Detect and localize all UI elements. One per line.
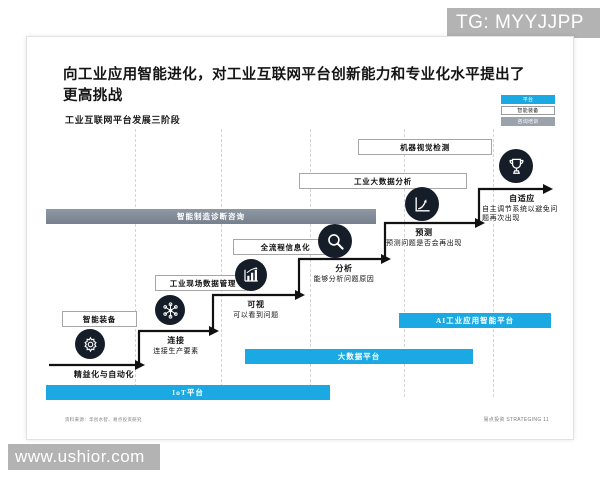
trophy-icon [499,149,533,183]
gear-icon [75,329,105,359]
slide-screenshot: TG: MYYJJPP www.ushior.com 向工业应用智能进化，对工业… [0,0,600,480]
stage-desc: 预测问题是否会再出现 [386,239,462,248]
legend-item-platform: 平台 [501,95,555,104]
stage-label-predict: 预测 预测问题是否会再出现 [386,227,462,248]
footer-brand: 易点投资 STRATEGING 11 [483,416,549,423]
capability-box-machine-vision: 机器视觉检测 [358,139,492,155]
platform-bar-iot: IoT平台 [46,385,330,400]
legend-item-equipment: 智能装备 [501,106,555,115]
slide-card: 向工业应用智能进化，对工业互联网平台创新能力和专业化水平提出了更高挑战 工业互联… [26,36,574,440]
stage-title: 可视 [213,299,299,310]
capability-box-smart-equipment: 智能装备 [62,311,137,327]
footer-source: 资料来源：华创水智、易点投资研究 [65,417,142,423]
legend-item-consulting: 咨询培训 [501,117,555,126]
stage-desc: 能够分析问题原因 [299,275,389,284]
stage-title: 精益化与自动化 [55,369,153,380]
legend: 平台 智能装备 咨询培训 [501,95,555,128]
platform-bar-ai: AI工业应用智能平台 [399,313,551,328]
stage-label-analyze: 分析 能够分析问题原因 [299,263,389,284]
stage-label-connect: 连接 连接生产要素 [139,335,213,356]
trend-curve-icon [405,187,439,221]
network-nodes-icon [155,295,185,325]
magnifier-icon [318,224,352,258]
platform-bar-bigdata: 大数据平台 [245,349,473,364]
stage-desc: 连接生产要素 [139,347,213,356]
diagram-plot-area: 机器视觉检测 工业大数据分析 全流程信息化 工业现场数据管理 智能装备 智能制造… [27,129,575,409]
stage-label-lean-automation: 精益化与自动化 [55,369,153,381]
page-title: 向工业应用智能进化，对工业互联网平台创新能力和专业化水平提出了更高挑战 [63,65,533,107]
stage-title: 预测 [386,227,462,238]
stage-label-adaptive: 自适应 自主调节系统以避免问题再次出现 [482,193,562,223]
bar-chart-icon [235,259,267,291]
gridline [135,129,136,397]
stage-title: 分析 [299,263,389,274]
page-subtitle: 工业互联网平台发展三阶段 [65,113,180,126]
consulting-bar: 智能制造诊断咨询 [46,209,376,224]
gridline [493,129,494,397]
stage-title: 连接 [139,335,213,346]
telegram-watermark: TG: MYYJJPP [447,8,600,38]
stage-title: 自适应 [482,193,562,204]
stage-label-visible: 可视 可以看到问题 [213,299,299,320]
gridline [221,129,222,397]
stage-desc: 可以看到问题 [213,311,299,320]
site-watermark: www.ushior.com [8,444,160,470]
capability-box-big-data-analysis: 工业大数据分析 [299,173,467,189]
stage-desc: 自主调节系统以避免问题再次出现 [482,205,562,223]
